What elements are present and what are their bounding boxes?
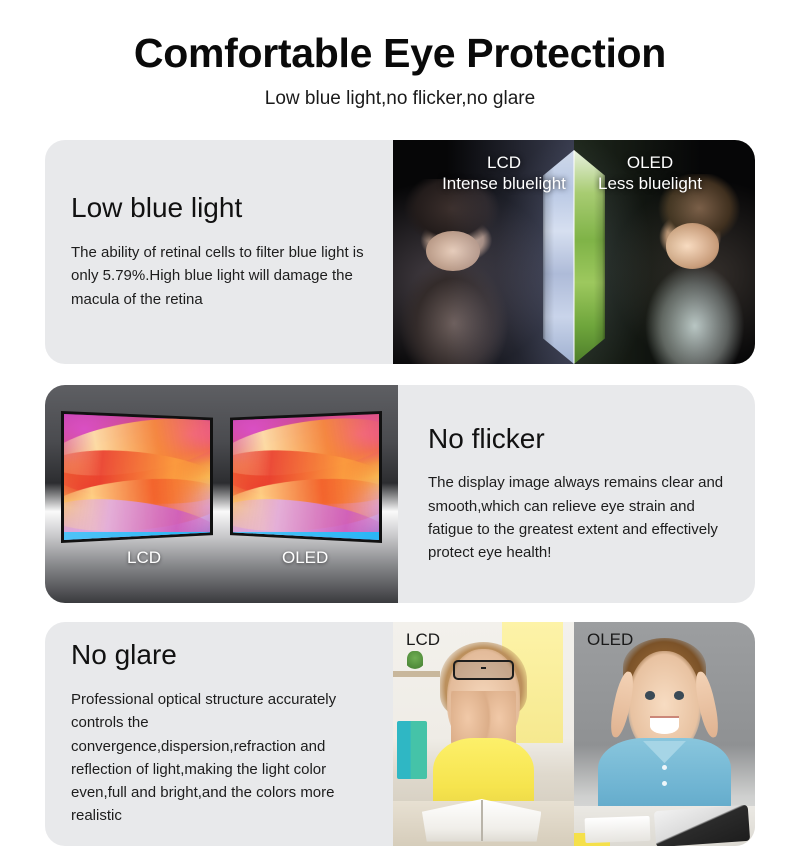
card-1-label-lcd: LCD Intense bluelight — [419, 152, 589, 195]
card-1-label-oled-caption: Less bluelight — [565, 173, 735, 194]
card-3-heading: No glare — [71, 640, 367, 671]
notebook — [584, 816, 650, 843]
child-covering-eyes-figure — [395, 179, 513, 364]
feature-card-low-blue-light: Low blue light The ability of retinal ce… — [45, 140, 755, 364]
card-2-heading: No flicker — [428, 424, 729, 455]
card-1-heading: Low blue light — [71, 193, 367, 224]
girl-hands-rubbing-eyes — [451, 691, 516, 745]
plant-decor — [407, 651, 423, 671]
feature-card-no-glare: No glare Professional optical structure … — [45, 622, 755, 846]
card-3-body: Professional optical structure accuratel… — [71, 688, 367, 828]
card-1-label-lcd-caption: Intense bluelight — [419, 173, 589, 194]
card-3-media: LCD OLE — [393, 622, 755, 846]
card-2-text-panel: No flicker The display image always rema… — [398, 385, 755, 603]
card-1-label-oled-title: OLED — [565, 152, 735, 173]
screen-bottom-strip — [64, 532, 210, 540]
tablet-device — [654, 805, 750, 846]
card-1-text-panel: Low blue light The ability of retinal ce… — [45, 140, 393, 364]
boy-smile — [650, 718, 679, 734]
card-3-label-lcd: LCD — [406, 630, 440, 650]
oled-child-photo: OLED — [574, 622, 755, 846]
child-smiling-figure — [641, 174, 753, 364]
page-title: Comfortable Eye Protection — [0, 31, 800, 75]
card-2-media: LCD OLED — [45, 385, 398, 603]
two-tv-displays-image: LCD OLED — [45, 385, 398, 603]
card-2-label-oled: OLED — [282, 548, 328, 568]
polo-button — [662, 781, 667, 786]
books-stack — [397, 721, 428, 779]
page-subtitle: Low blue light,no flicker,no glare — [0, 88, 800, 110]
shelf — [393, 671, 440, 677]
oled-tv-display — [230, 411, 382, 543]
card-1-media: LCD Intense bluelight OLED Less blueligh… — [393, 140, 755, 364]
card-3-label-oled: OLED — [587, 630, 633, 650]
card-1-body: The ability of retinal cells to filter b… — [71, 241, 367, 311]
oled-tv-screen — [233, 414, 379, 540]
card-3-text-panel: No glare Professional optical structure … — [45, 622, 393, 846]
eyeglasses-icon — [453, 660, 515, 680]
screen-bottom-strip — [233, 532, 379, 540]
card-1-label-oled: OLED Less bluelight — [565, 152, 735, 195]
page-header: Comfortable Eye Protection Low blue ligh… — [0, 0, 800, 110]
lcd-tv-display — [61, 411, 213, 543]
card-2-body: The display image always remains clear a… — [428, 471, 729, 564]
feature-card-no-flicker: No flicker The display image always rema… — [45, 385, 755, 603]
two-children-photos-image: LCD OLE — [393, 622, 755, 846]
page-root: Comfortable Eye Protection Low blue ligh… — [0, 0, 800, 867]
lcd-tv-screen — [64, 414, 210, 540]
lcd-child-photo: LCD — [393, 622, 574, 846]
blue-light-comparison-image: LCD Intense bluelight OLED Less blueligh… — [393, 140, 755, 364]
card-1-label-lcd-title: LCD — [419, 152, 589, 173]
card-2-label-lcd: LCD — [127, 548, 161, 568]
